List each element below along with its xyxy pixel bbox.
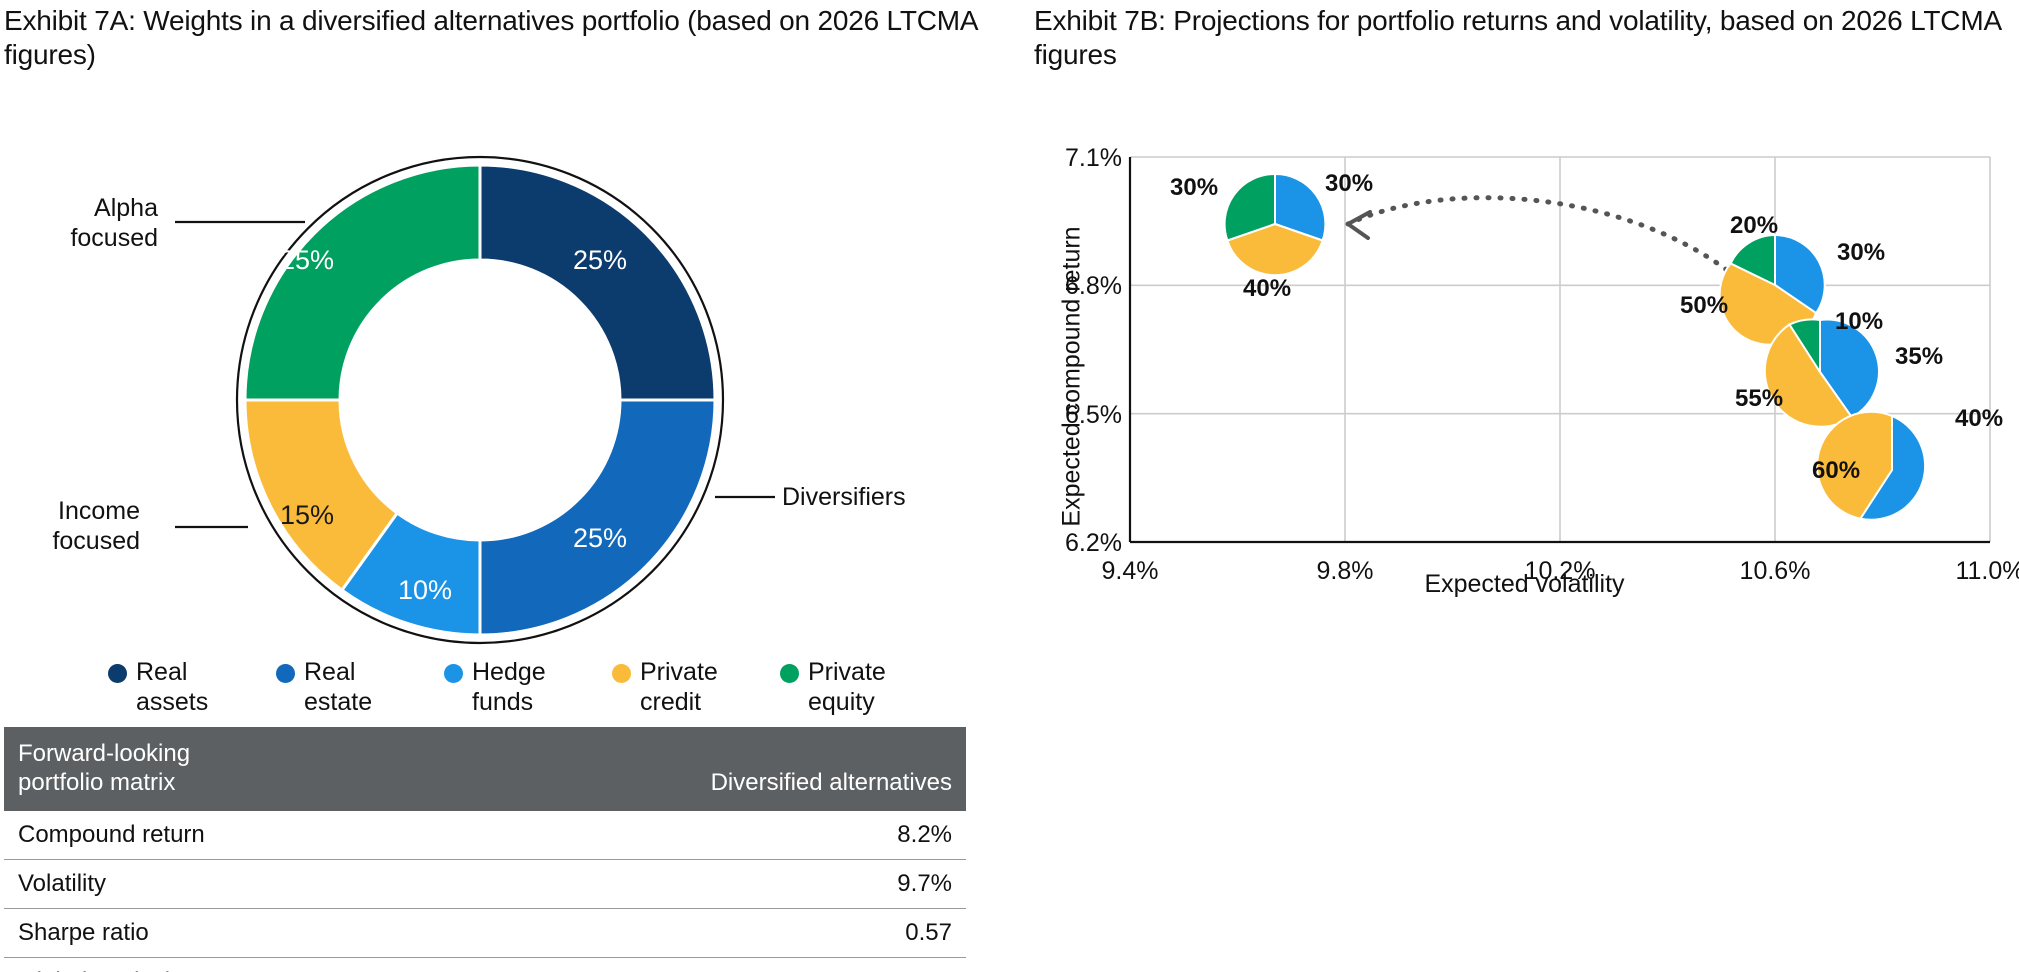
pie-label-55-35-10-equity: 55% <box>1735 385 1783 413</box>
donut-chart: 25% 25% 10% 15% 25% <box>175 142 785 662</box>
donut-value-real-assets: 25% <box>573 245 627 275</box>
pie-label-55-35-10-bond: 35% <box>1895 343 1943 371</box>
pie-label-40-30-30-alts: 30% <box>1170 174 1218 202</box>
pie-label-40-30-30-bond: 30% <box>1325 170 1373 198</box>
legend-dot-icon <box>108 664 127 683</box>
legend-dot-icon <box>612 664 631 683</box>
exhibit-7b-panel: Exhibit 7B: Projections for portfolio re… <box>1030 0 2019 972</box>
donut-chart-area: 25% 25% 10% 15% 25% Alpha focused Income… <box>0 72 1000 652</box>
table-row: Global equity beta 0.48 <box>4 957 966 972</box>
exhibit-7a-legend: Real assets Real estate Hedge funds Priv… <box>108 658 910 717</box>
donut-slice-real-assets <box>480 165 715 400</box>
donut-slice-real-estate <box>480 400 715 635</box>
connector-arrowhead-icon <box>1348 212 1370 238</box>
row-label-volatility: Volatility <box>4 859 636 908</box>
cell-global-equity-beta: 0.48 <box>636 957 966 972</box>
pie-label-40-30-30-equity: 40% <box>1243 275 1291 303</box>
exhibit-7a-title: Exhibit 7A: Weights in a diversified alt… <box>4 4 989 72</box>
legend-dot-icon <box>444 664 463 683</box>
legend-item-private-equity: Private equity <box>780 658 910 717</box>
pie-label-50-30-20-bond: 30% <box>1837 239 1885 267</box>
table-header-diversified-alternatives: Diversified alternatives <box>636 727 966 811</box>
scatter-chart-area: 7.1% 6.8% 6.5% 6.2% 9.4% 9.8% 10.2% 10.6… <box>1030 72 2019 672</box>
callout-diversifiers: Diversifiers <box>782 483 982 513</box>
table-row: Compound return 8.2% <box>4 811 966 860</box>
legend-label: Private credit <box>640 658 742 717</box>
table-row: Volatility 9.7% <box>4 859 966 908</box>
callout-alpha-focused: Alpha focused <box>18 194 158 253</box>
pie-label-55-35-10-alts: 10% <box>1835 308 1883 336</box>
legend-item-real-assets: Real assets <box>108 658 238 717</box>
pie-label-50-30-20-equity: 50% <box>1680 292 1728 320</box>
legend-dot-icon <box>780 664 799 683</box>
table-header-matrix-label: Forward-looking portfolio matrix <box>4 727 636 811</box>
pie-label-60-40-equity: 60% <box>1812 457 1860 485</box>
cell-compound-return: 8.2% <box>636 811 966 860</box>
pie-label-60-40-bond: 40% <box>1955 405 2003 433</box>
cell-sharpe-ratio: 0.57 <box>636 908 966 957</box>
legend-dot-icon <box>276 664 295 683</box>
legend-label: Private equity <box>808 658 910 717</box>
donut-slice-private-equity <box>245 165 480 400</box>
exhibit-7b-title: Exhibit 7B: Projections for portfolio re… <box>1034 4 2019 72</box>
pie-label-50-30-20-alts: 20% <box>1730 212 1778 240</box>
table-header-row: Forward-looking portfolio matrix Diversi… <box>4 727 966 811</box>
donut-value-hedge-funds: 10% <box>398 575 452 605</box>
donut-value-real-estate: 25% <box>573 523 627 553</box>
legend-item-private-credit: Private credit <box>612 658 742 717</box>
table-row: Sharpe ratio 0.57 <box>4 908 966 957</box>
y-axis-title: Expected compound return <box>1058 117 1087 637</box>
legend-item-real-estate: Real estate <box>276 658 406 717</box>
exhibit-page: Exhibit 7A: Weights in a diversified alt… <box>0 0 2019 972</box>
pie-marker-40-30-30 <box>1225 174 1326 275</box>
cell-volatility: 9.7% <box>636 859 966 908</box>
row-label-global-equity-beta: Global equity beta <box>4 957 636 972</box>
legend-label: Real estate <box>304 658 406 717</box>
exhibit-7a-panel: Exhibit 7A: Weights in a diversified alt… <box>0 0 1000 972</box>
row-label-compound-return: Compound return <box>4 811 636 860</box>
row-label-sharpe-ratio: Sharpe ratio <box>4 908 636 957</box>
donut-value-private-credit: 15% <box>280 500 334 530</box>
x-axis-title: Expected volatility <box>1030 570 2019 599</box>
connector-dotted-1 <box>1348 198 1736 277</box>
callout-income-focused: Income focused <box>10 497 140 556</box>
legend-label: Real assets <box>136 658 238 717</box>
legend-item-hedge-funds: Hedge funds <box>444 658 574 717</box>
exhibit-7a-table: Forward-looking portfolio matrix Diversi… <box>4 727 966 972</box>
donut-value-private-equity: 25% <box>280 245 334 275</box>
legend-label: Hedge funds <box>472 658 574 717</box>
